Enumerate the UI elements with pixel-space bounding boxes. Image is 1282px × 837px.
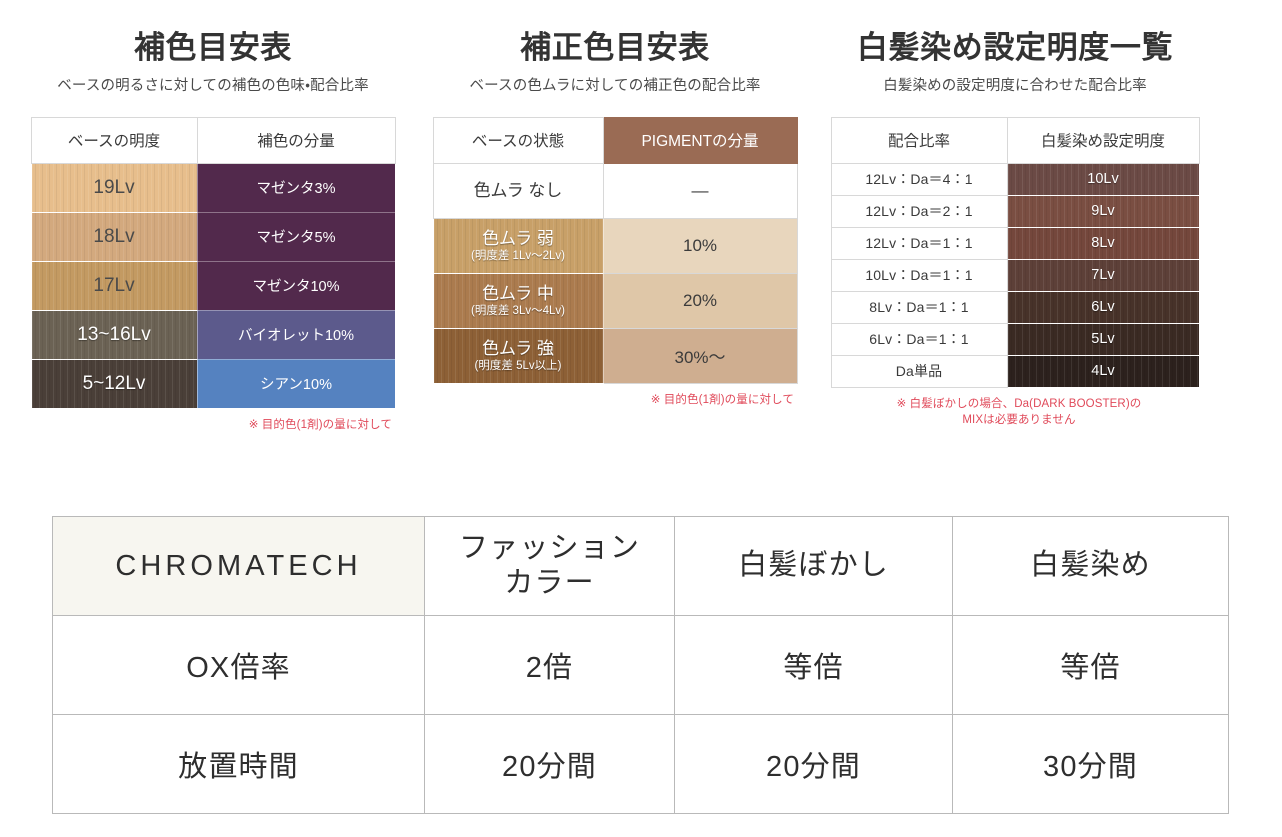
cell-time-fashion: 20分間 (425, 715, 675, 814)
cell-base-level: 13~16Lv (31, 310, 197, 359)
table-chromatech-summary: CHROMATECH ファッション カラー 白髪ぼかし 白髪染め OX倍率 2倍… (52, 516, 1229, 814)
cell-complement-mix: マゼンタ10% (197, 261, 395, 310)
base-level-text: 17Lv (32, 275, 197, 297)
cell-base-state: 色ムラ 弱 (明度差 1Lv〜2Lv) (433, 218, 603, 273)
base-state-detail: (明度差 5Lv以上) (434, 360, 603, 373)
cell-base-state: 色ムラ 強 (明度差 5Lv以上) (433, 328, 603, 383)
cell-gray-level: 4Lv (1007, 355, 1199, 387)
table-row: 6Lv：Da＝1：1 5Lv (831, 323, 1199, 355)
cell-ox-ratio-coverage: 等倍 (953, 616, 1229, 715)
cell-complement-mix: マゼンタ5% (197, 212, 395, 261)
cell-gray-level: 5Lv (1007, 323, 1199, 355)
base-level-text: 13~16Lv (32, 324, 197, 346)
base-state-text: 色ムラ なし (474, 181, 563, 200)
table-row: 12Lv：Da＝1：1 8Lv (831, 227, 1199, 259)
cell-base-level: 5~12Lv (31, 359, 197, 408)
table-row: 色ムラ 弱 (明度差 1Lv〜2Lv) 10% (433, 218, 797, 273)
complement-mix-text: マゼンタ3% (257, 181, 336, 197)
col-header-fashion-color: ファッション カラー (425, 517, 675, 616)
cell-pigment-amount: 30%〜 (603, 328, 797, 383)
panel-2-note: ※ 目的色(1剤)の量に対して (410, 392, 794, 409)
table-header-row: 配合比率 白髪染め設定明度 (831, 117, 1199, 163)
cell-time-coverage: 30分間 (953, 715, 1229, 814)
panel-1-subtitle: ベースの明るさに対しての補色の色味・配合比率 (8, 74, 418, 95)
panel-3-title: 白髪染め設定明度一覧 (810, 30, 1220, 66)
gray-level-text: 4Lv (1008, 363, 1199, 379)
cell-base-level: 17Lv (31, 261, 197, 310)
brand-cell: CHROMATECH (53, 517, 425, 616)
base-state-text: 色ムラ 弱 (明度差 1Lv〜2Lv) (434, 229, 603, 263)
base-level-text: 5~12Lv (32, 373, 197, 395)
summary-table-wrap: CHROMATECH ファッション カラー 白髪ぼかし 白髪染め OX倍率 2倍… (52, 516, 1228, 814)
base-state-detail: (明度差 3Lv〜4Lv) (434, 305, 603, 318)
cell-mix-ratio: 6Lv：Da＝1：1 (831, 323, 1007, 355)
table-row: OX倍率 2倍 等倍 等倍 (53, 616, 1229, 715)
gray-level-text: 8Lv (1008, 235, 1199, 251)
col-header-pigment-amount: PIGMENTの分量 (603, 117, 797, 163)
col-header-mix-ratio: 配合比率 (831, 117, 1007, 163)
complement-mix-text: マゼンタ5% (257, 230, 336, 246)
table-header-row: ベースの明度 補色の分量 (31, 117, 395, 163)
panel-2-subtitle: ベースの色ムラに対しての補正色の配合比率 (410, 74, 820, 95)
gray-level-text: 10Lv (1008, 171, 1199, 187)
cell-gray-level: 6Lv (1007, 291, 1199, 323)
table-row: 8Lv：Da＝1：1 6Lv (831, 291, 1199, 323)
table-row: 12Lv：Da＝2：1 9Lv (831, 195, 1199, 227)
table-row: 18Lv マゼンタ5% (31, 212, 395, 261)
cell-mix-ratio: Da単品 (831, 355, 1007, 387)
table-header-row: CHROMATECH ファッション カラー 白髪ぼかし 白髪染め (53, 517, 1229, 616)
gray-level-text: 5Lv (1008, 331, 1199, 347)
table-row: 5~12Lv シアン10% (31, 359, 395, 408)
gray-level-text: 6Lv (1008, 299, 1199, 315)
complement-mix-text: バイオレット10% (238, 328, 354, 344)
base-state-label: 色ムラ 弱 (482, 229, 554, 248)
cell-gray-level: 8Lv (1007, 227, 1199, 259)
cell-ox-ratio-fashion: 2倍 (425, 616, 675, 715)
cell-pigment-amount: 20% (603, 273, 797, 328)
cell-base-state: 色ムラ 中 (明度差 3Lv〜4Lv) (433, 273, 603, 328)
col-header-base-level: ベースの明度 (31, 117, 197, 163)
table-row: 放置時間 20分間 20分間 30分間 (53, 715, 1229, 814)
cell-base-state: 色ムラ なし (433, 163, 603, 218)
cell-mix-ratio: 8Lv：Da＝1：1 (831, 291, 1007, 323)
panel-2-title: 補正色目安表 (410, 30, 820, 66)
cell-base-level: 19Lv (31, 163, 197, 212)
base-state-detail: (明度差 1Lv〜2Lv) (434, 250, 603, 263)
table-row: 19Lv マゼンタ3% (31, 163, 395, 212)
base-state-text: 色ムラ 強 (明度差 5Lv以上) (434, 339, 603, 373)
complement-mix-text: マゼンタ10% (252, 279, 339, 295)
cell-mix-ratio: 12Lv：Da＝2：1 (831, 195, 1007, 227)
cell-mix-ratio: 12Lv：Da＝1：1 (831, 227, 1007, 259)
table-row: 10Lv：Da＝1：1 7Lv (831, 259, 1199, 291)
cell-complement-mix: バイオレット10% (197, 310, 395, 359)
table-row: 色ムラ なし — (433, 163, 797, 218)
table-row: 17Lv マゼンタ10% (31, 261, 395, 310)
table-row: 12Lv：Da＝4：1 10Lv (831, 163, 1199, 195)
table-header-row: ベースの状態 PIGMENTの分量 (433, 117, 797, 163)
table-row: 色ムラ 強 (明度差 5Lv以上) 30%〜 (433, 328, 797, 383)
cell-mix-ratio: 10Lv：Da＝1：1 (831, 259, 1007, 291)
panel-3-note: ※ 白髪ぼかしの場合、Da(DARK BOOSTER)の MIXは必要ありません (836, 396, 1202, 429)
base-state-text: 色ムラ 中 (明度差 3Lv〜4Lv) (434, 284, 603, 318)
cell-mix-ratio: 12Lv：Da＝4：1 (831, 163, 1007, 195)
col-header-gray-blend: 白髪ぼかし (675, 517, 953, 616)
cell-ox-ratio-blend: 等倍 (675, 616, 953, 715)
row-label-processing-time: 放置時間 (53, 715, 425, 814)
table-row: 色ムラ 中 (明度差 3Lv〜4Lv) 20% (433, 273, 797, 328)
base-state-label: 色ムラ 中 (482, 284, 554, 303)
cell-pigment-amount: 10% (603, 218, 797, 273)
panel-base-brightness: 補色目安表 ベースの明るさに対しての補色の色味・配合比率 ベースの明度 補色の分… (8, 0, 418, 433)
gray-level-text: 7Lv (1008, 267, 1199, 283)
table-correction-color: ベースの状態 PIGMENTの分量 色ムラ なし — 色ムラ 弱 (433, 117, 798, 384)
complement-mix-text: シアン10% (260, 377, 332, 393)
table-gray-coverage: 配合比率 白髪染め設定明度 12Lv：Da＝4：1 10Lv 12Lv：Da＝2… (831, 117, 1200, 388)
infographic-page: 補色目安表 ベースの明るさに対しての補色の色味・配合比率 ベースの明度 補色の分… (0, 0, 1282, 837)
table-base-brightness: ベースの明度 補色の分量 19Lv マゼンタ3% 18Lv マゼンタ5% 17L… (31, 117, 396, 409)
base-level-text: 18Lv (32, 226, 197, 248)
cell-pigment-amount: — (603, 163, 797, 218)
base-level-text: 19Lv (32, 177, 197, 199)
cell-complement-mix: マゼンタ3% (197, 163, 395, 212)
panel-3-subtitle: 白髪染めの設定明度に合わせた配合比率 (810, 74, 1220, 95)
col-header-gray-coverage: 白髪染め (953, 517, 1229, 616)
gray-level-text: 9Lv (1008, 203, 1199, 219)
cell-gray-level: 7Lv (1007, 259, 1199, 291)
row-label-ox-ratio: OX倍率 (53, 616, 425, 715)
cell-time-blend: 20分間 (675, 715, 953, 814)
panel-correction-color: 補正色目安表 ベースの色ムラに対しての補正色の配合比率 ベースの状態 PIGME… (410, 0, 820, 433)
col-header-complement-amount: 補色の分量 (197, 117, 395, 163)
top-panels: 補色目安表 ベースの明るさに対しての補色の色味・配合比率 ベースの明度 補色の分… (0, 0, 1282, 433)
cell-gray-level: 10Lv (1007, 163, 1199, 195)
panel-gray-coverage-levels: 白髪染め設定明度一覧 白髪染めの設定明度に合わせた配合比率 配合比率 白髪染め設… (810, 0, 1220, 433)
cell-gray-level: 9Lv (1007, 195, 1199, 227)
panel-1-title: 補色目安表 (8, 30, 418, 66)
col-header-base-state: ベースの状態 (433, 117, 603, 163)
base-state-label: 色ムラ 強 (482, 339, 554, 358)
cell-complement-mix: シアン10% (197, 359, 395, 408)
cell-base-level: 18Lv (31, 212, 197, 261)
table-row: 13~16Lv バイオレット10% (31, 310, 395, 359)
col-header-gray-level: 白髪染め設定明度 (1007, 117, 1199, 163)
table-row: Da単品 4Lv (831, 355, 1199, 387)
panel-1-note: ※ 目的色(1剤)の量に対して (8, 417, 392, 434)
